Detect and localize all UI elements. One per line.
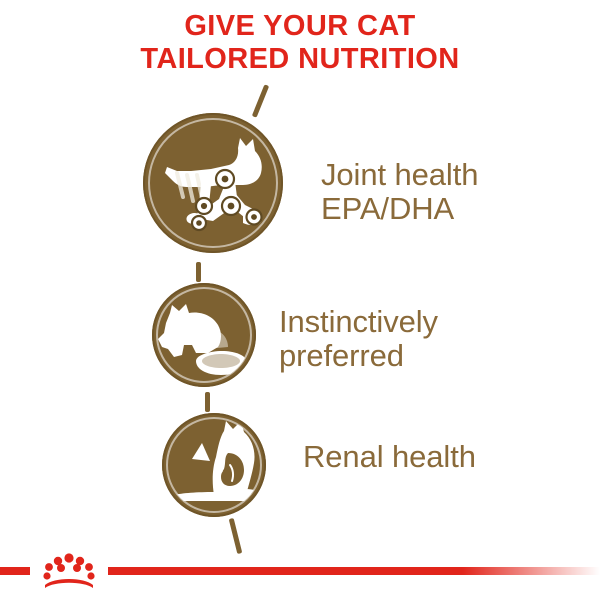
cat-kidney-icon — [162, 413, 266, 517]
feature-label-line-2: preferred — [279, 339, 438, 373]
page-title: GIVE YOUR CAT TAILORED NUTRITION — [0, 10, 600, 76]
connector-1-2 — [196, 262, 201, 282]
cat-skeleton-joints-icon — [143, 113, 283, 253]
connector-2-3 — [205, 392, 210, 412]
headline-line-1: GIVE YOUR CAT — [0, 10, 600, 43]
feature-label-renal-health: Renal health — [303, 440, 476, 474]
headline-line-2: TAILORED NUTRITION — [0, 43, 600, 76]
cat-eating-bowl-icon — [152, 283, 256, 387]
feature-label-joint-health: Joint health EPA/DHA — [321, 158, 478, 226]
royal-canin-crown-icon — [34, 550, 104, 592]
feature-label-instinctively-preferred: Instinctively preferred — [279, 305, 438, 373]
feature-label-line-1: Instinctively — [279, 304, 438, 339]
product-feature-panel: GIVE YOUR CAT TAILORED NUTRITION — [0, 0, 600, 600]
brand-footer — [0, 540, 600, 600]
feature-label-line-1: Joint health — [321, 157, 478, 192]
footer-rule-right — [108, 567, 600, 575]
feature-label-line-1: Renal health — [303, 439, 476, 474]
feature-label-line-2: EPA/DHA — [321, 192, 478, 226]
footer-rule-left — [0, 567, 30, 575]
